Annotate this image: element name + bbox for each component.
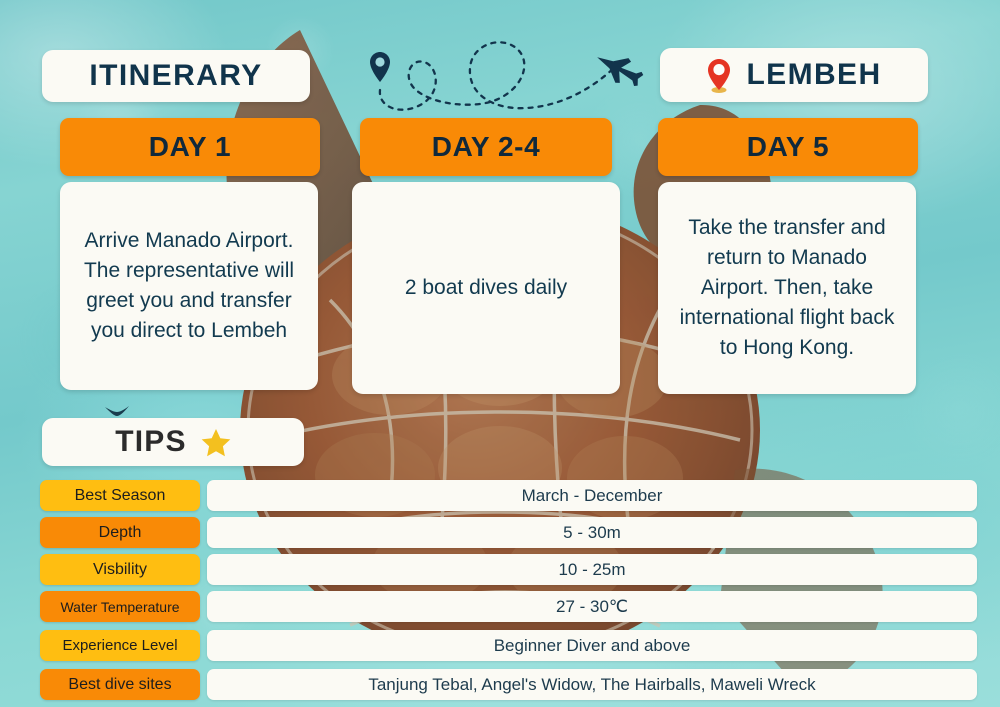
tips-title: TIPS (115, 425, 186, 459)
day-2-4-header: DAY 2-4 (360, 118, 612, 176)
tip-label-experience-level: Experience Level (40, 630, 200, 661)
tip-label-depth: Depth (40, 517, 200, 548)
tip-value-best-season: March - December (207, 480, 977, 511)
tip-label-best-dive-sites: Best dive sites (40, 669, 200, 700)
tip-value-best-dive-sites: Tanjung Tebal, Angel's Widow, The Hairba… (207, 669, 977, 700)
tip-label-best-season: Best Season (40, 480, 200, 511)
itinerary-title: ITINERARY (89, 59, 262, 93)
day-1-header: DAY 1 (60, 118, 320, 176)
tip-label-visibility: Visbility (40, 554, 200, 585)
itinerary-header: ITINERARY (42, 50, 310, 102)
day-5-card: Take the transfer and return to Manado A… (658, 182, 916, 394)
day-1-card: Arrive Manado Airport. The representativ… (60, 182, 318, 390)
map-pin-icon (370, 52, 390, 82)
day-2-4-title: DAY 2-4 (432, 131, 541, 163)
day-2-4-text: 2 boat dives daily (405, 273, 567, 303)
day-1-title: DAY 1 (149, 131, 231, 163)
itinerary-poster: ITINERARY LEMBEH TIPS DAY 1 Arrive Manad… (0, 0, 1000, 707)
day-5-header: DAY 5 (658, 118, 918, 176)
location-pin-icon (706, 57, 732, 93)
day-5-title: DAY 5 (747, 131, 829, 163)
tip-value-water-temperature: 27 - 30℃ (207, 591, 977, 622)
day-5-text: Take the transfer and return to Manado A… (672, 213, 902, 363)
tip-label-water-temperature: Water Temperature (40, 591, 200, 622)
airplane-icon (591, 45, 647, 93)
flight-path-decoration (350, 38, 650, 118)
day-2-4-card: 2 boat dives daily (352, 182, 620, 394)
tip-value-experience-level: Beginner Diver and above (207, 630, 977, 661)
day-1-text: Arrive Manado Airport. The representativ… (74, 226, 304, 346)
tip-value-visibility: 10 - 25m (207, 554, 977, 585)
tip-value-depth: 5 - 30m (207, 517, 977, 548)
star-icon (201, 428, 231, 457)
tips-header: TIPS (42, 418, 304, 466)
location-header: LEMBEH (660, 48, 928, 102)
location-title: LEMBEH (746, 58, 881, 92)
